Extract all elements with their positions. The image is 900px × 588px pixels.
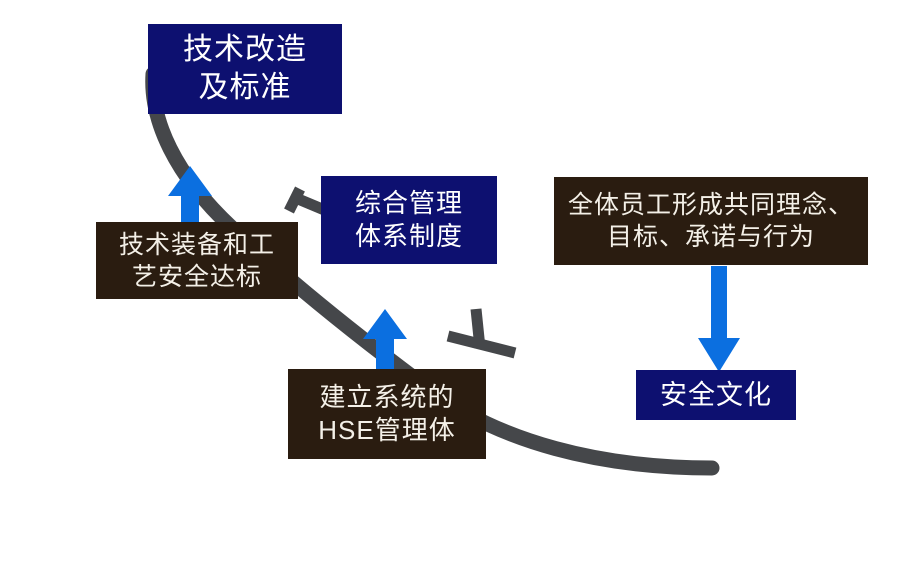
node-safety-culture-line1: 安全文化	[660, 378, 772, 413]
node-all-staff-line2: 目标、承诺与行为	[607, 221, 815, 253]
node-tech-equipment[interactable]: 技术装备和工 艺安全达标	[96, 222, 298, 299]
node-tech-equipment-line1: 技术装备和工	[119, 229, 275, 261]
diagram-canvas: 技术改造 及标准 综合管理 体系制度 技术装备和工 艺安全达标 建立系统的 HS…	[0, 0, 900, 588]
arrow-up-shape	[363, 309, 407, 377]
arrow-up-icon	[355, 305, 415, 377]
node-hse-system[interactable]: 建立系统的 HSE管理体	[288, 369, 486, 459]
curve-tick-2	[476, 309, 480, 348]
node-tech-upgrade[interactable]: 技术改造 及标准	[148, 24, 342, 114]
node-hse-system-line2: HSE管理体	[318, 414, 455, 447]
node-all-staff[interactable]: 全体员工形成共同理念、 目标、承诺与行为	[554, 177, 868, 265]
node-integrated-mgmt-line1: 综合管理	[355, 187, 463, 220]
curve-tick-1b	[289, 189, 300, 211]
node-tech-upgrade-line1: 技术改造	[183, 31, 307, 69]
node-all-staff-line1: 全体员工形成共同理念、	[568, 189, 854, 221]
arrow-down-icon	[690, 266, 748, 376]
node-tech-upgrade-line2: 及标准	[199, 69, 292, 107]
curve-tick-2b	[448, 336, 515, 353]
arrow-down-shape	[698, 266, 740, 372]
node-hse-system-line1: 建立系统的	[319, 381, 454, 414]
node-safety-culture[interactable]: 安全文化	[636, 370, 796, 420]
node-tech-equipment-line2: 艺安全达标	[132, 261, 262, 293]
node-integrated-mgmt-line2: 体系制度	[355, 220, 463, 253]
node-integrated-mgmt[interactable]: 综合管理 体系制度	[321, 176, 497, 264]
